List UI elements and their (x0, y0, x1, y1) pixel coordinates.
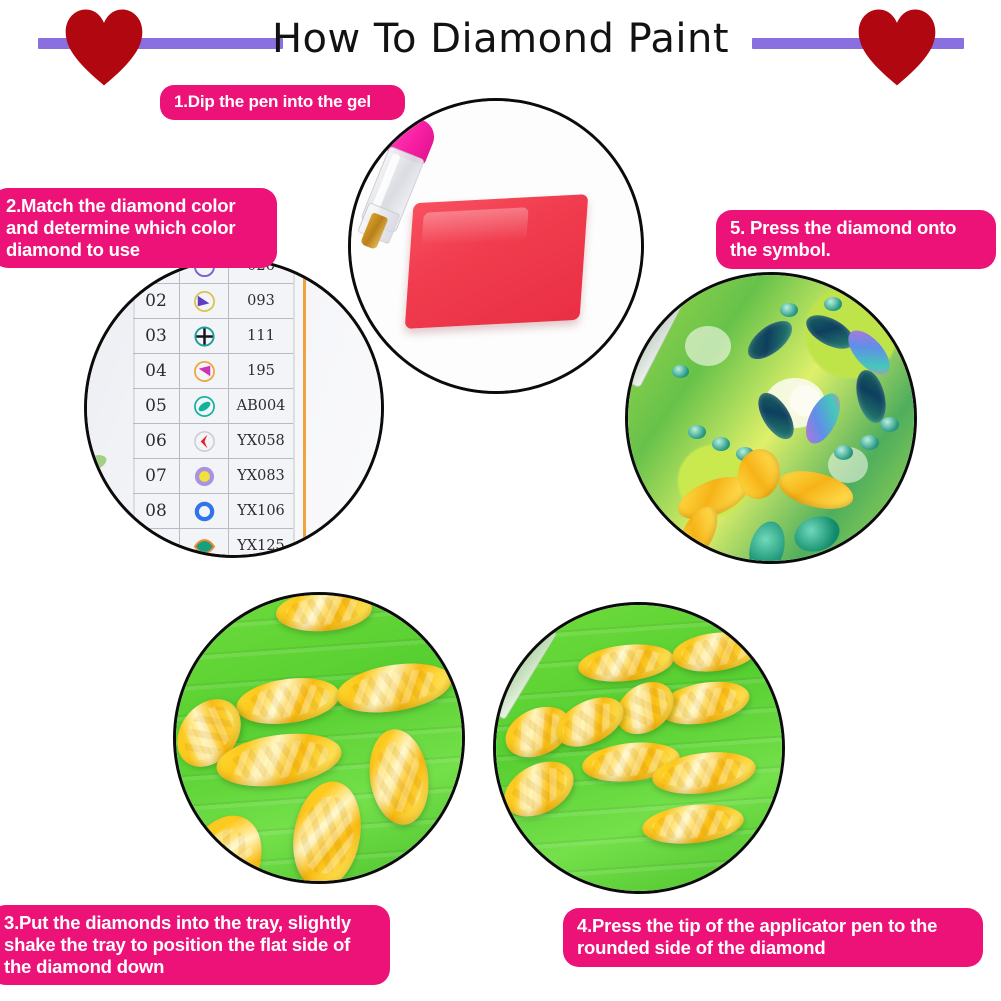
table-row: 05 AB004 (133, 389, 293, 424)
chart-orange-line (303, 261, 306, 555)
leaf-symbol (179, 529, 229, 555)
oval-fill-symbol (179, 389, 229, 423)
chart-number: 03 (133, 326, 179, 346)
step-label-1: 1.Dip the pen into the gel (160, 85, 405, 120)
infographic-canvas: How To Diamond Paint 1.Dip the pen into … (0, 0, 1001, 1001)
table-row: 06 YX058 (133, 424, 293, 459)
table-row: 02 093 (133, 284, 293, 319)
table-row: 07 YX083 (133, 459, 293, 494)
dot-ring-symbol (179, 459, 229, 493)
chart-code: YX106 (229, 503, 293, 519)
chart-code: AB004 (229, 398, 293, 414)
photo-circle-diamonds-in-tray (173, 592, 465, 884)
triangle-corner-symbol (179, 284, 229, 318)
step-label-3: 3.Put the diamonds into the tray, slight… (0, 905, 390, 985)
table-row: 08 YX106 (133, 494, 293, 529)
applicator-pen (628, 275, 691, 430)
table-row: 03 111 (133, 319, 293, 354)
chart-number: 04 (133, 361, 179, 381)
chart-number: 05 (133, 396, 179, 416)
chart-number: 02 (133, 291, 179, 311)
mandala-canvas (628, 275, 914, 561)
plus-circle-symbol (179, 319, 229, 353)
page-title: How To Diamond Paint (0, 16, 1001, 62)
ring-symbol (179, 494, 229, 528)
photo-circle-color-chart: 01 026 02 093 03 (84, 258, 384, 558)
photo-circle-press-applicator (493, 602, 785, 894)
chart-code: YX125 (229, 538, 293, 554)
chart-code: 111 (229, 328, 293, 344)
table-row: 04 195 (133, 354, 293, 389)
chart-code: 195 (229, 363, 293, 379)
pen-metal-tip (628, 366, 634, 416)
color-chart-table: 01 026 02 093 03 (133, 261, 293, 555)
photo-circle-dip-pen-in-gel (348, 98, 644, 394)
pen-cap-band (657, 281, 690, 303)
chart-number: 07 (133, 466, 179, 486)
header: How To Diamond Paint (0, 0, 1001, 78)
chart-code: YX058 (229, 433, 293, 449)
chart-number: 08 (133, 501, 179, 521)
chart-code: YX083 (229, 468, 293, 484)
photo-circle-press-onto-symbol (625, 272, 917, 564)
chart-number: 09 (133, 536, 179, 555)
table-row: 09 YX125 (133, 529, 293, 555)
gel-pad (405, 194, 589, 329)
triangle-magenta-symbol (179, 354, 229, 388)
chevron-left-symbol (179, 424, 229, 458)
step-label-5: 5. Press the diamond onto the symbol. (716, 210, 996, 269)
step-label-4: 4.Press the tip of the applicator pen to… (563, 908, 983, 967)
chart-number: 06 (133, 431, 179, 451)
chart-code: 093 (229, 293, 293, 309)
step-label-2: 2.Match the diamond color and determine … (0, 188, 277, 268)
